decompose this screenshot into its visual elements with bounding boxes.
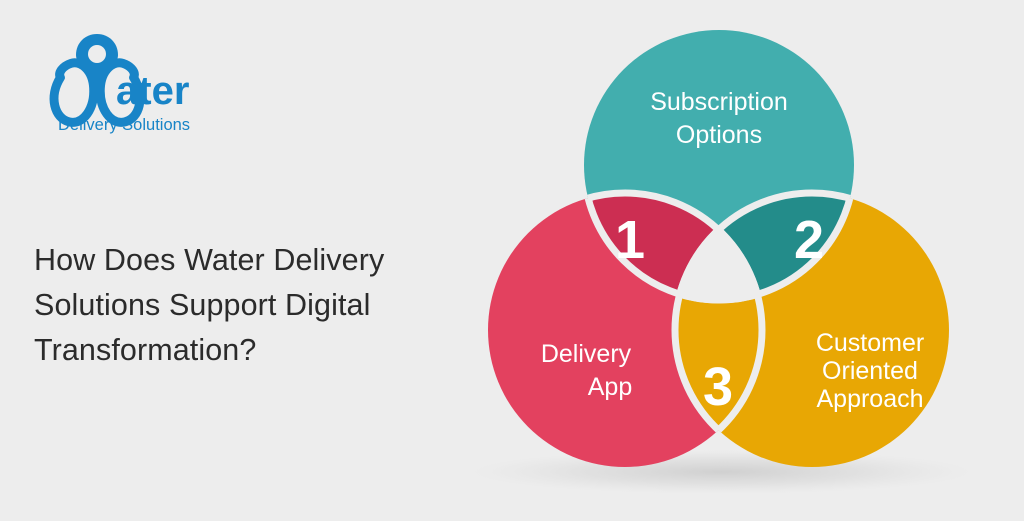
venn-label-customer: Customer Oriented Approach: [816, 329, 924, 413]
headline-line-2: Solutions Support Digital: [34, 283, 464, 328]
map-pin-hole: [88, 45, 106, 63]
venn-label-delivery-line-2: App: [588, 373, 632, 401]
brand-name-text: ater: [116, 69, 189, 113]
page-title: How Does Water Delivery Solutions Suppor…: [34, 238, 464, 373]
venn-label-customer-line-1: Customer: [816, 329, 924, 357]
diagram-shadow: [472, 450, 972, 494]
headline-line-3: Transformation?: [34, 328, 464, 373]
venn-diagram: Subscription Options Delivery App Custom…: [460, 10, 1024, 510]
brand-tagline-text: Delivery Solutions: [58, 116, 190, 134]
venn-number-2: 2: [794, 210, 824, 270]
water-drop-pin-w-logo-icon: ater Delivery Solutions: [36, 28, 216, 138]
venn-number-3: 3: [703, 357, 733, 417]
brand-logo[interactable]: ater Delivery Solutions: [36, 28, 216, 138]
headline-line-1: How Does Water Delivery: [34, 238, 464, 283]
venn-diagram-svg: Subscription Options Delivery App Custom…: [460, 10, 1024, 510]
venn-label-subscription-line-1: Subscription: [650, 88, 788, 116]
page-canvas: ater Delivery Solutions How Does Water D…: [0, 0, 1024, 521]
venn-label-customer-line-3: Approach: [816, 385, 923, 413]
venn-label-customer-line-2: Oriented: [822, 357, 918, 385]
venn-label-subscription-line-2: Options: [676, 121, 762, 149]
venn-number-1: 1: [615, 210, 645, 270]
venn-label-delivery-line-1: Delivery: [541, 340, 632, 368]
